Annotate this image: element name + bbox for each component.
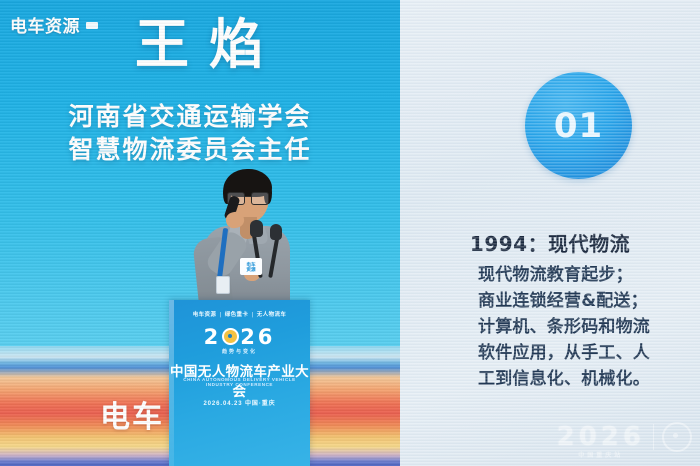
microphone-flag-logo: 电车资源	[240, 258, 262, 275]
slide-body-line-1: 现代物流教育起步；	[478, 262, 693, 288]
podium-year-left: 2	[204, 325, 222, 349]
speaker-person: 电车资源	[198, 172, 294, 312]
microphone-head	[250, 220, 263, 237]
watermark-year: 2026	[557, 422, 645, 452]
podium-tag-sep-2: |	[251, 312, 253, 318]
brand-logo-bar	[86, 22, 98, 29]
slide-body-line-3: 计算机、条形码和物流	[478, 314, 693, 340]
podium-tag-3: 无人物流车	[257, 312, 287, 318]
slide-body-line-2: 商业连锁经营&配送；	[478, 288, 693, 314]
podium-year-subtitle: 趋势与变化	[169, 348, 310, 355]
brand-logo: 电车资源	[10, 12, 98, 37]
watermark-subtitle: 中国重庆站	[557, 450, 645, 459]
glasses-right-lens	[251, 192, 269, 205]
presentation-photo: 电车资源 王焰 河南省交通运输学会 智慧物流委员会主任 电车 01 1994：现…	[0, 0, 700, 466]
sunset-logo-text: 电车	[100, 392, 164, 436]
section-number-text: 01	[554, 106, 603, 146]
microphone-flag-text: 电车资源	[246, 262, 255, 272]
speaker-name: 王焰	[104, 12, 314, 78]
podium-date-location: 2026.04.23 中国·重庆	[169, 398, 310, 407]
speaker-org-line-2: 智慧物流委员会主任	[40, 133, 340, 166]
speaker-org-line-1: 河南省交通运输学会	[40, 100, 340, 133]
speaker-organization: 河南省交通运输学会 智慧物流委员会主任	[40, 100, 340, 166]
brand-logo-text: 电车资源	[10, 17, 80, 37]
slide-body-line-4: 软件应用，从手工、人	[478, 340, 693, 366]
badge-card	[216, 276, 230, 294]
podium-tag-sep-1: |	[219, 312, 221, 318]
podium: 电车资源|绿色重卡|无人物流车 226 趋势与变化 中国无人物流车产业大会 CH…	[169, 300, 310, 466]
podium-tag-1: 电车资源	[193, 312, 217, 318]
watermark-divider	[653, 424, 654, 450]
section-number-badge: 01	[525, 72, 632, 179]
slide-right-panel: 01 1994：现代物流 现代物流教育起步； 商业连锁经营&配送； 计算机、条形…	[400, 0, 700, 466]
podium-year-right: 26	[240, 325, 275, 349]
location-pin-icon	[662, 422, 692, 452]
conference-watermark: 2026 中国重庆站	[557, 422, 692, 452]
steering-wheel-icon	[222, 328, 239, 345]
slide-heading: 1994：现代物流	[400, 228, 700, 257]
podium-year: 226	[169, 325, 310, 349]
slide-body-text: 现代物流教育起步； 商业连锁经营&配送； 计算机、条形码和物流 软件应用，从手工…	[478, 262, 693, 392]
slide-body-line-5: 工到信息化、机械化。	[478, 366, 693, 392]
podium-tag-2: 绿色重卡	[225, 312, 249, 318]
podium-tagline: 电车资源|绿色重卡|无人物流车	[169, 310, 310, 318]
microphone-head-secondary	[270, 224, 282, 240]
podium-conference-title-en: CHINA AUTONOMOUS DELIVERY VEHICLE INDUST…	[169, 377, 310, 387]
podium-left-edge	[169, 300, 174, 466]
